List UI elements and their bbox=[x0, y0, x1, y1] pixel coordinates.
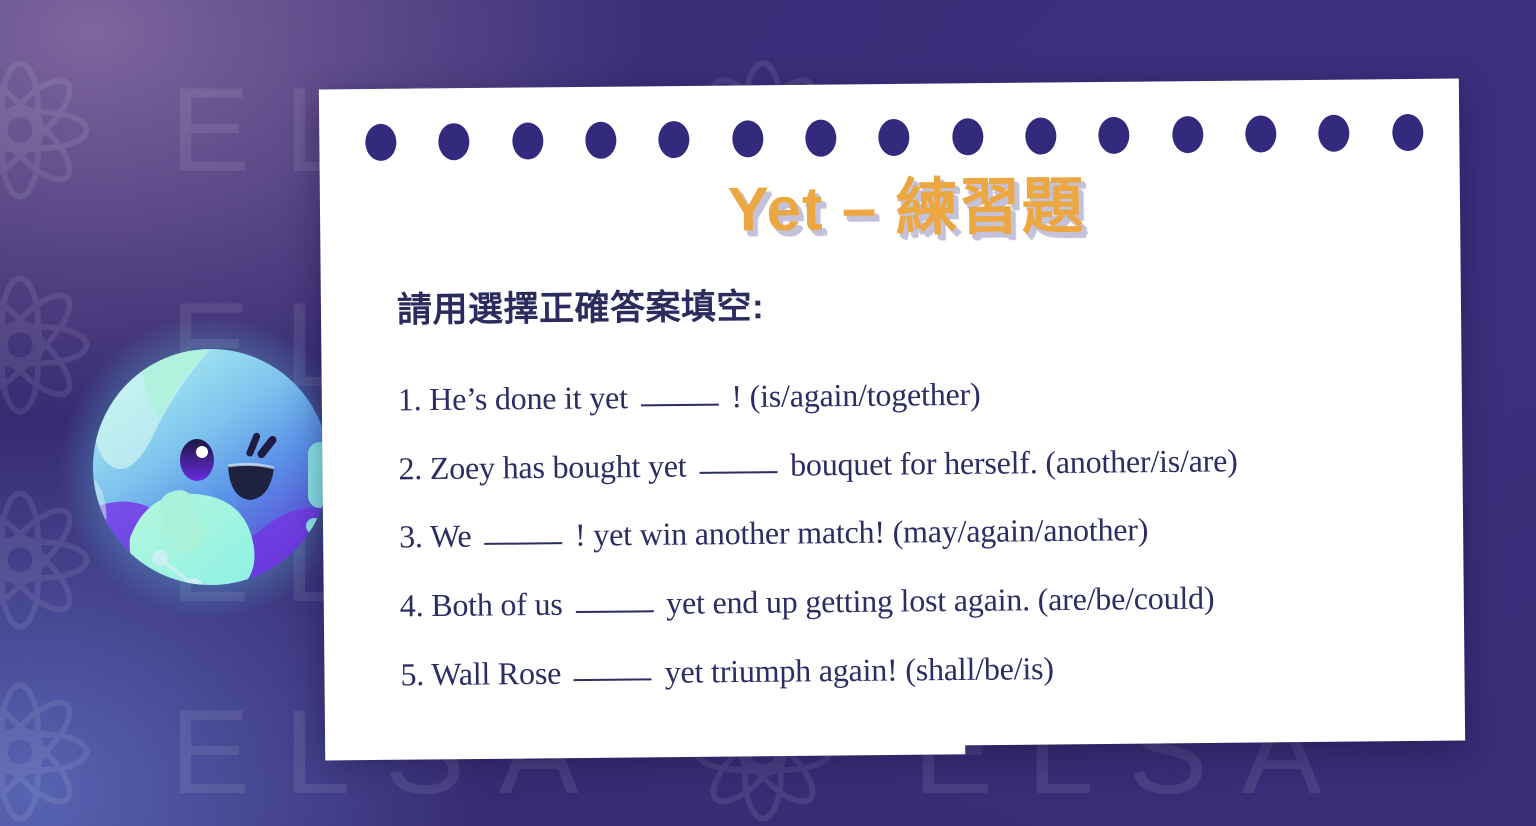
punch-hole-icon bbox=[1319, 114, 1350, 151]
punch-hole-icon bbox=[1392, 113, 1423, 150]
punch-hole-icon bbox=[879, 118, 910, 155]
question-list: 1. He’s done it yet ! (is/again/together… bbox=[398, 365, 1421, 694]
punch-hole-icon bbox=[952, 118, 983, 155]
elsa-star-icon bbox=[0, 40, 110, 220]
question-number: 2. bbox=[398, 450, 422, 486]
answer-blank[interactable] bbox=[484, 511, 562, 545]
question-text-before: He’s done it yet bbox=[429, 379, 628, 417]
page-title: Yet – 練習題 bbox=[396, 171, 1417, 246]
punch-hole-icon bbox=[1172, 116, 1203, 153]
punch-hole-icon bbox=[365, 123, 396, 160]
question-item: 3. We ! yet win another match! (may/agai… bbox=[399, 502, 1419, 556]
question-number: 3. bbox=[399, 518, 423, 554]
punch-hole-icon bbox=[1099, 116, 1130, 153]
punch-hole-icon bbox=[1245, 115, 1276, 152]
answer-blank[interactable] bbox=[575, 578, 653, 612]
question-text-after: yet end up getting lost again. (are/be/c… bbox=[666, 579, 1214, 620]
question-item: 5. Wall Rose yet triumph again! (shall/b… bbox=[400, 640, 1420, 694]
question-number: 1. bbox=[398, 381, 422, 417]
card-bottom-notch bbox=[325, 742, 965, 760]
answer-blank[interactable] bbox=[699, 440, 777, 474]
question-item: 1. He’s done it yet ! (is/again/together… bbox=[398, 365, 1418, 419]
question-text-after: bouquet for herself. (another/is/are) bbox=[790, 442, 1238, 482]
question-text-before: Zoey has bought yet bbox=[430, 447, 687, 485]
question-text-after: ! (is/again/together) bbox=[731, 376, 980, 414]
slide-canvas: ELSA ELSA bbox=[0, 0, 1536, 826]
instructions-heading: 請用選擇正確答案填空: bbox=[397, 272, 1417, 333]
answer-blank[interactable] bbox=[574, 647, 652, 681]
question-text-before: We bbox=[430, 518, 472, 554]
punch-hole-strip bbox=[365, 109, 1423, 165]
card-content: Yet – 練習題 請用選擇正確答案填空: 1. He’s done it ye… bbox=[396, 171, 1421, 694]
punch-hole-icon bbox=[1025, 117, 1056, 154]
punch-hole-icon bbox=[439, 123, 470, 160]
punch-hole-icon bbox=[732, 120, 763, 157]
question-text-after: ! yet win another match! (may/again/anot… bbox=[575, 511, 1149, 553]
punch-hole-icon bbox=[659, 120, 690, 157]
worksheet-card: Yet – 練習題 請用選擇正確答案填空: 1. He’s done it ye… bbox=[319, 79, 1465, 752]
question-number: 5. bbox=[400, 656, 424, 692]
question-text-before: Both of us bbox=[431, 586, 563, 623]
punch-hole-icon bbox=[585, 121, 616, 158]
winking-globe-mascot-icon bbox=[56, 312, 366, 622]
question-item: 2. Zoey has bought yet bouquet for herse… bbox=[398, 434, 1418, 488]
punch-hole-icon bbox=[805, 119, 836, 156]
answer-blank[interactable] bbox=[640, 372, 718, 406]
punch-hole-icon bbox=[512, 122, 543, 159]
question-text-after: yet triumph again! (shall/be/is) bbox=[665, 650, 1054, 690]
question-number: 4. bbox=[400, 587, 424, 623]
question-text-before: Wall Rose bbox=[431, 654, 561, 691]
elsa-star-icon bbox=[0, 662, 110, 826]
question-item: 4. Both of us yet end up getting lost ag… bbox=[400, 571, 1420, 625]
